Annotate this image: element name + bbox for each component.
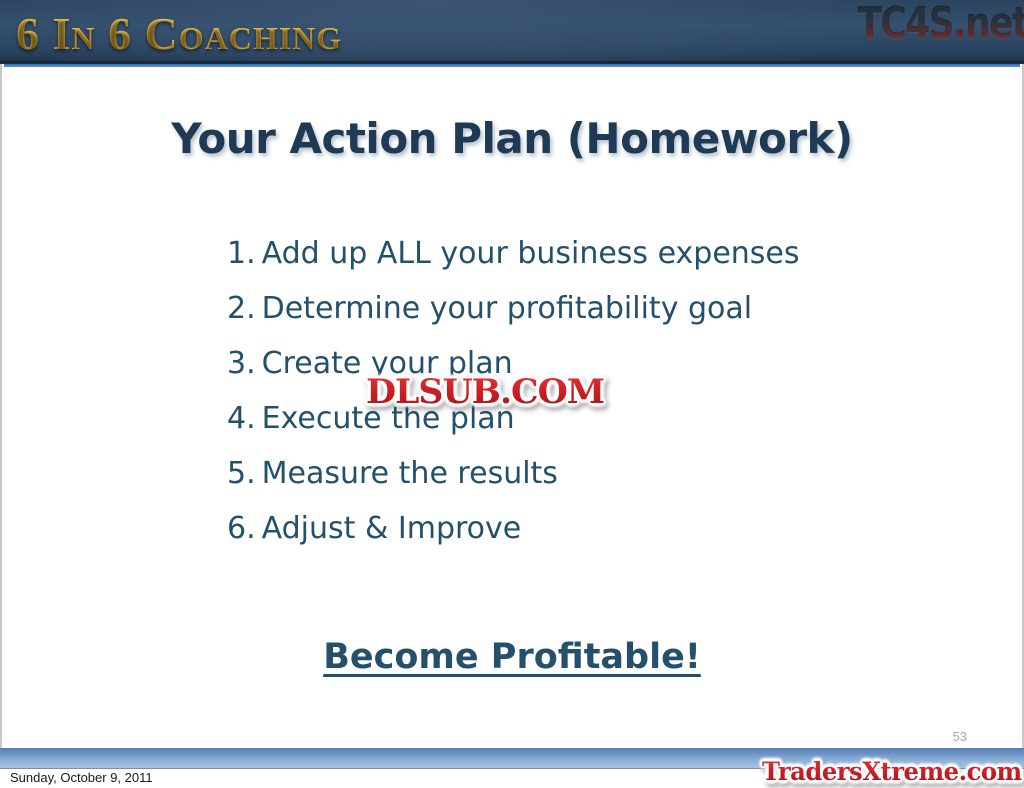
list-item-label: Adjust & Improve [262,511,522,546]
watermark-tradersxtreme: TradersXtreme.com [762,757,1022,786]
accent-divider [4,64,1020,67]
list-item-number: 2. [227,291,256,326]
list-item-number: 6. [227,511,256,546]
list-item-label: Measure the results [262,456,558,491]
list-item: 1.Add up ALL your business expenses [227,239,800,269]
list-item-number: 4. [227,401,256,436]
closing-statement: Become Profitable! [2,637,1022,677]
header-banner: 6 In 6 Coaching TC4S.net [0,0,1024,64]
watermark-dlsub: DLSUB.COM [366,372,604,412]
page-title: Your Action Plan (Homework) [2,114,1022,163]
slide-root: 6 In 6 Coaching TC4S.net Your Action Pla… [0,0,1024,788]
footer-date: Sunday, October 9, 2011 [10,770,153,785]
list-item: 6.Adjust & Improve [227,514,800,544]
list-item-number: 1. [227,236,256,271]
list-item: 2.Determine your profitability goal [227,294,800,324]
page-number: 53 [953,729,967,744]
list-item-label: Determine your profitability goal [262,291,752,326]
list-item-number: 3. [227,346,256,381]
site-logo: TC4S.net [858,0,1024,49]
list-item: 5.Measure the results [227,459,800,489]
list-item-number: 5. [227,456,256,491]
list-item-label: Add up ALL your business expenses [262,236,800,271]
brand-title: 6 In 6 Coaching [16,7,342,60]
